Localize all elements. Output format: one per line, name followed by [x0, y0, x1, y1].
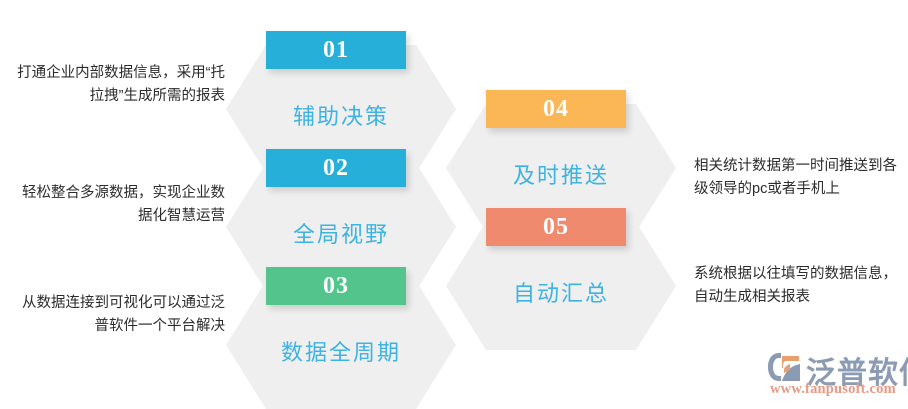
step-hexagon-05[interactable]: 05 自动汇总: [446, 222, 676, 350]
company-logo[interactable]: 泛普软件 www.fanpusoft.com: [768, 350, 900, 400]
step-number-badge-05: 05: [486, 208, 626, 246]
step-description-03: 从数据连接到可视化可以通过泛普软件一个平台解决: [10, 292, 225, 338]
infographic-canvas: 打通企业内部数据信息，采用“托拉拽”生成所需的报表 轻松整合多源数据，实现企业数…: [0, 0, 908, 407]
step-number-badge-04: 04: [486, 90, 626, 128]
step-description-05: 系统根据以往填写的数据信息，自动生成相关报表: [694, 263, 908, 309]
step-hexagon-03[interactable]: 03 数据全周期: [226, 281, 456, 409]
step-label-01: 辅助决策: [226, 99, 456, 131]
step-description-04: 相关统计数据第一时间推送到各级领导的pc或者手机上: [694, 155, 908, 201]
step-description-01: 打通企业内部数据信息，采用“托拉拽”生成所需的报表: [10, 62, 225, 108]
step-label-03: 数据全周期: [226, 335, 456, 367]
step-label-04: 及时推送: [446, 158, 676, 190]
step-label-02: 全局视野: [226, 217, 456, 249]
fanpu-logo-icon: [768, 352, 802, 382]
step-number-badge-01: 01: [266, 31, 406, 69]
logo-website-url: www.fanpusoft.com: [770, 381, 896, 398]
step-label-05: 自动汇总: [446, 276, 676, 308]
step-description-02: 轻松整合多源数据，实现企业数据化智慧运营: [10, 182, 225, 228]
step-number-badge-03: 03: [266, 267, 406, 305]
step-number-badge-02: 02: [266, 149, 406, 187]
